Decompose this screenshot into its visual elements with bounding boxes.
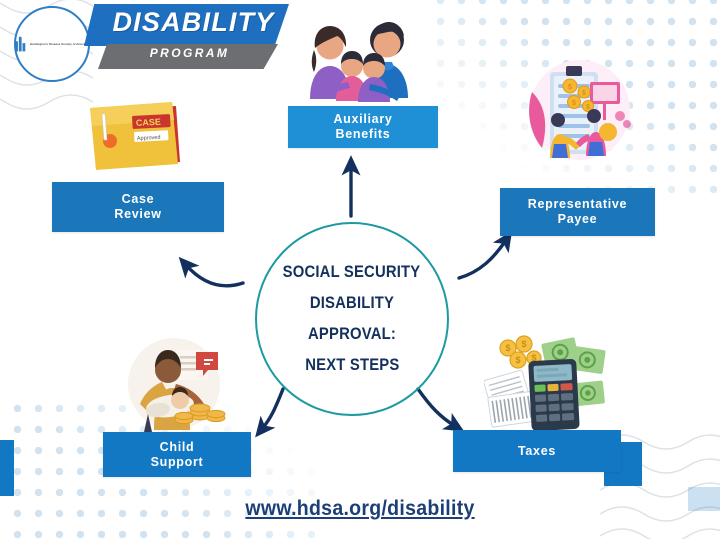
step-label-auxiliary-benefits[interactable]: Auxiliary Benefits xyxy=(288,106,438,148)
center-title-line-3: NEXT STEPS xyxy=(305,350,399,381)
arrow-right-representative-payee xyxy=(459,240,506,278)
step-label-line-1: Auxiliary xyxy=(333,112,392,126)
step-label-taxes[interactable]: Taxes xyxy=(453,430,621,472)
center-title-line-2: DISABILITY APPROVAL: xyxy=(267,288,438,350)
step-label-line-1: Taxes xyxy=(518,444,556,459)
step-label-line-2: Support xyxy=(151,455,204,469)
arrow-left-case-review xyxy=(186,265,243,286)
step-label-line-2: Review xyxy=(114,207,161,221)
step-label-line-1: Child xyxy=(160,440,195,454)
step-label-line-1: Case xyxy=(122,192,155,206)
arrow-down-left-child-support xyxy=(262,389,283,429)
infographic-poster: Huntington's Disease Society of America … xyxy=(0,0,720,539)
step-label-line-2: Benefits xyxy=(336,127,391,141)
website-url-link[interactable]: www.hdsa.org/disability xyxy=(25,497,695,521)
step-label-child-support[interactable]: Child Support xyxy=(103,432,251,477)
step-label-line-1: Representative xyxy=(528,197,627,211)
step-label-line-2: Payee xyxy=(558,212,598,226)
center-circle: SOCIAL SECURITY DISABILITY APPROVAL: NEX… xyxy=(255,222,449,416)
step-label-case-review[interactable]: Case Review xyxy=(52,182,224,232)
center-title-line-1: SOCIAL SECURITY xyxy=(283,257,421,288)
arrow-down-right-taxes xyxy=(418,389,455,426)
step-label-representative-payee[interactable]: Representative Payee xyxy=(500,188,655,236)
